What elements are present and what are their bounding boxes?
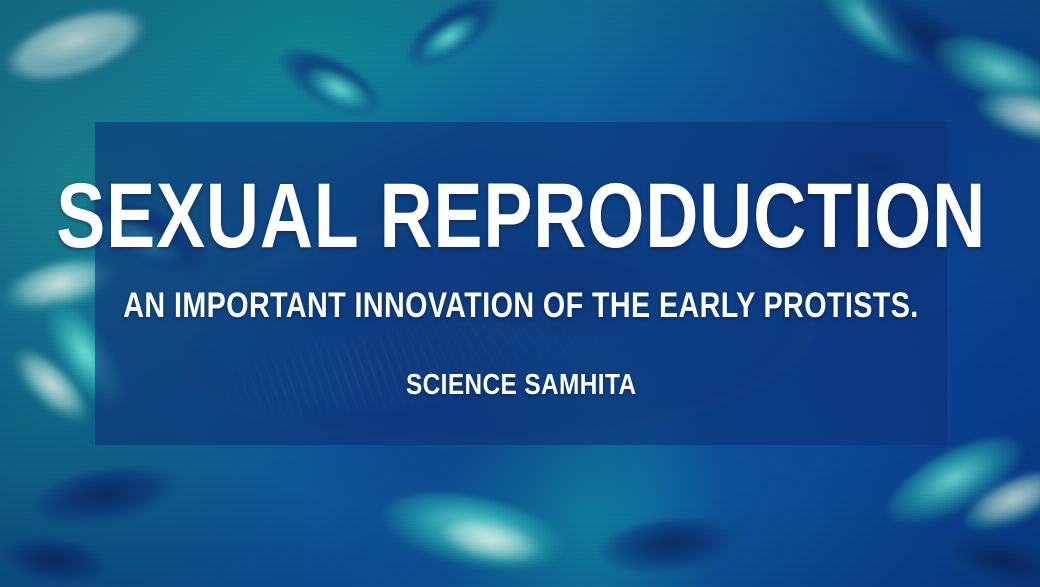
slide-subtitle: AN IMPORTANT INNOVATION OF THE EARLY PRO… xyxy=(123,288,918,323)
slide-attribution: SCIENCE SAMHITA xyxy=(406,371,637,400)
slide-title: SEXUAL REPRODUCTION xyxy=(56,170,986,262)
text-overlay-panel: SEXUAL REPRODUCTION AN IMPORTANT INNOVAT… xyxy=(95,122,947,445)
slide-image: SEXUAL REPRODUCTION AN IMPORTANT INNOVAT… xyxy=(0,0,1040,587)
